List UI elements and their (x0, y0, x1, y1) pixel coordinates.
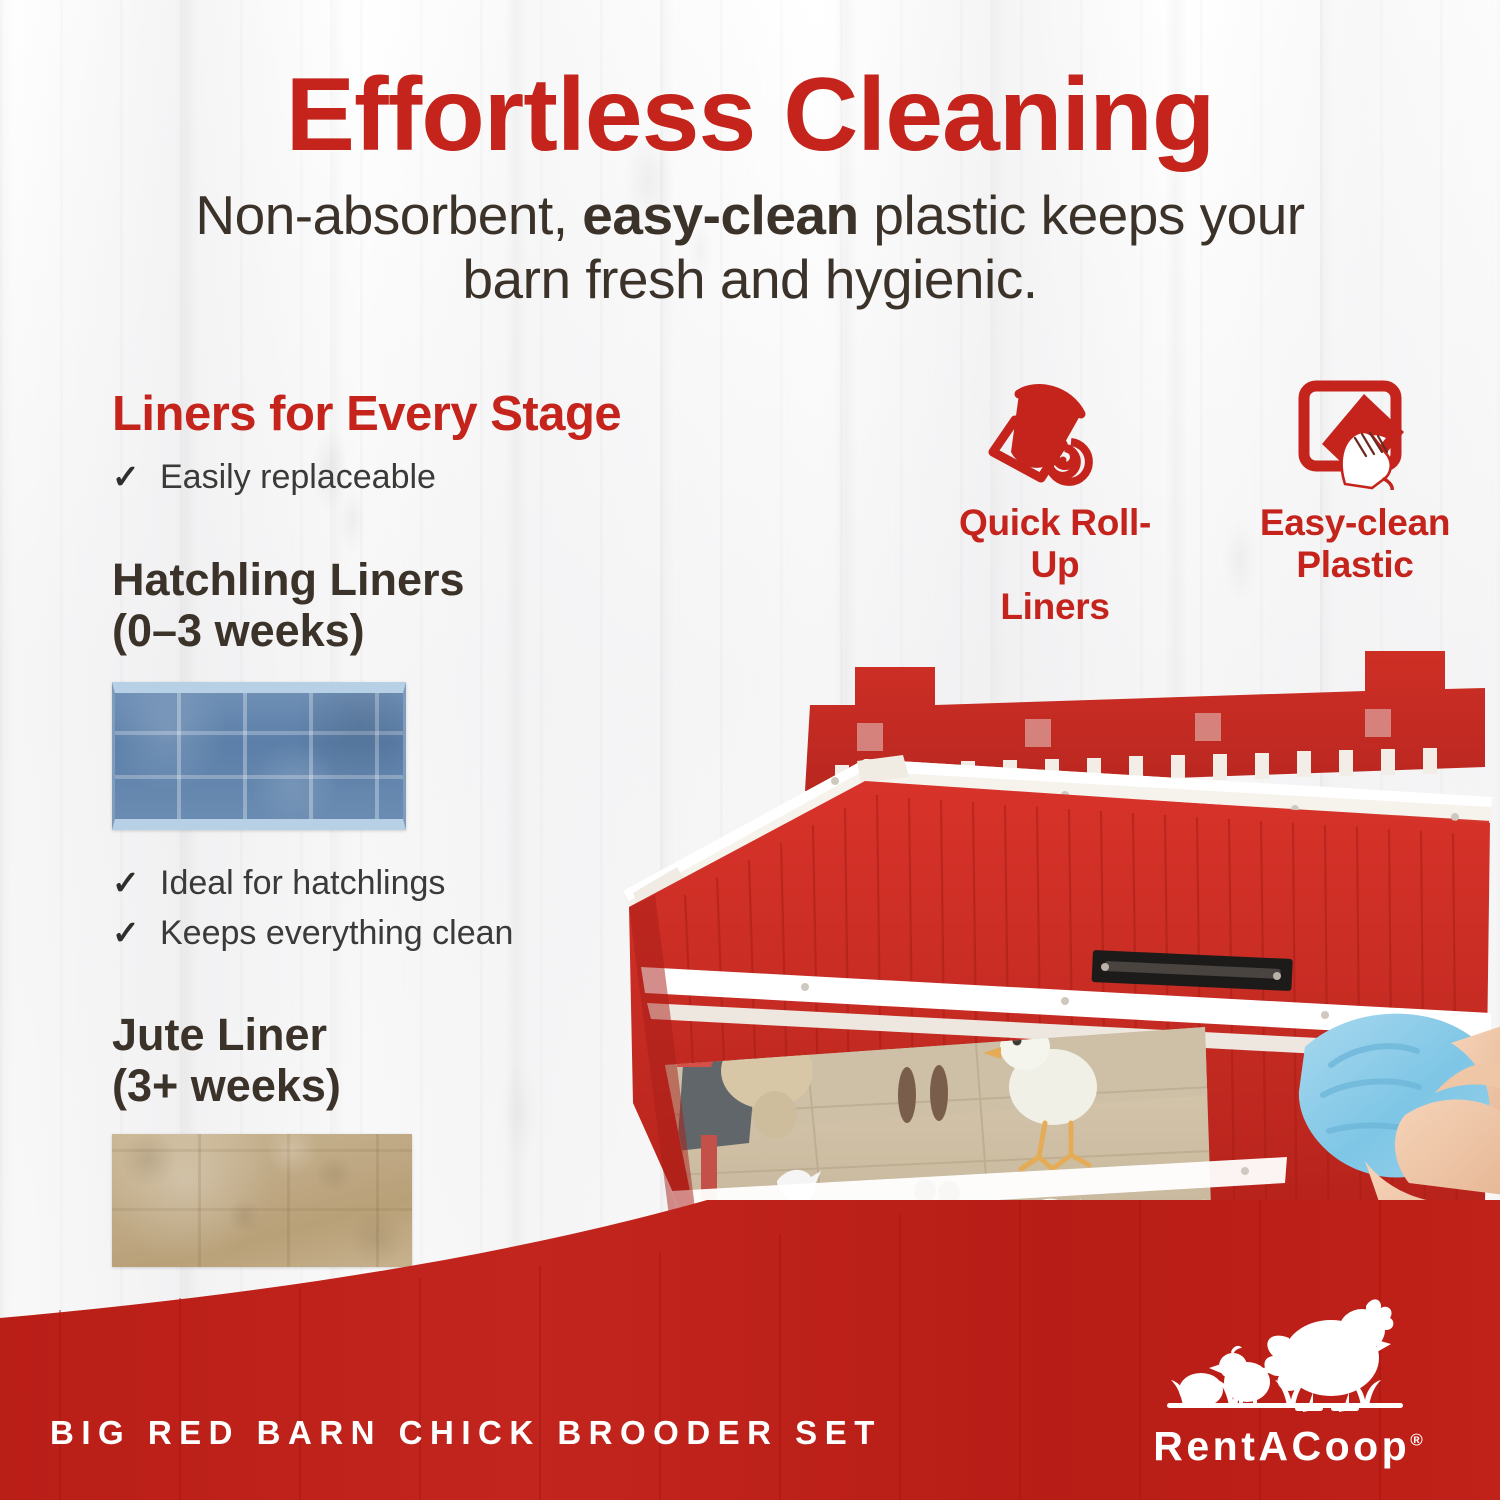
brand-name: RentACoop® (1153, 1423, 1423, 1470)
feature-label-line-1: Quick Roll-Up (940, 502, 1170, 586)
feature-quick-roll-up-liners: Quick Roll-Up Liners (940, 378, 1170, 629)
brand-name-text: RentACoop (1153, 1423, 1410, 1469)
feature-icons-row: Quick Roll-Up Liners (940, 378, 1470, 629)
page-subtitle: Non-absorbent, easy-clean plastic keeps … (190, 184, 1310, 312)
product-name-footer: BIG RED BARN CHICK BROODER SET (50, 1414, 882, 1452)
registered-trademark-icon: ® (1410, 1430, 1423, 1449)
feature-label-line-2: Plastic (1240, 544, 1470, 586)
brand-logo: RentACoop® (1138, 1294, 1438, 1470)
bullet-easily-replaceable: ✓ Easily replaceable (112, 456, 732, 500)
check-icon: ✓ (112, 456, 146, 498)
hand-wiping-plastic-icon (1240, 378, 1470, 490)
bullet-label: Keeps everything clean (160, 912, 513, 956)
bullet-label: Ideal for hatchlings (160, 862, 445, 906)
feature-label-line-1: Easy-clean (1240, 502, 1470, 544)
hen-chick-egg-silhouette-icon (1163, 1294, 1413, 1416)
check-icon: ✓ (112, 862, 146, 904)
roll-up-liner-icon (940, 378, 1170, 490)
subtitle-part-1: Non-absorbent, (195, 184, 582, 246)
check-icon: ✓ (112, 912, 146, 954)
subtitle-emphasis: easy-clean (582, 184, 858, 246)
section-title-liners: Liners for Every Stage (112, 386, 732, 442)
spacer (112, 500, 732, 554)
footer-band: BIG RED BARN CHICK BROODER SET (0, 1200, 1500, 1500)
bullet-label: Easily replaceable (160, 456, 436, 500)
page-title: Effortless Cleaning (0, 62, 1500, 168)
infographic-page: Effortless Cleaning Non-absorbent, easy-… (0, 0, 1500, 1500)
blue-hatchling-liner-swatch (112, 682, 406, 830)
feature-easy-clean-plastic: Easy-clean Plastic (1240, 378, 1470, 629)
feature-label: Easy-clean Plastic (1240, 502, 1470, 586)
headline-block: Effortless Cleaning Non-absorbent, easy-… (0, 62, 1500, 312)
